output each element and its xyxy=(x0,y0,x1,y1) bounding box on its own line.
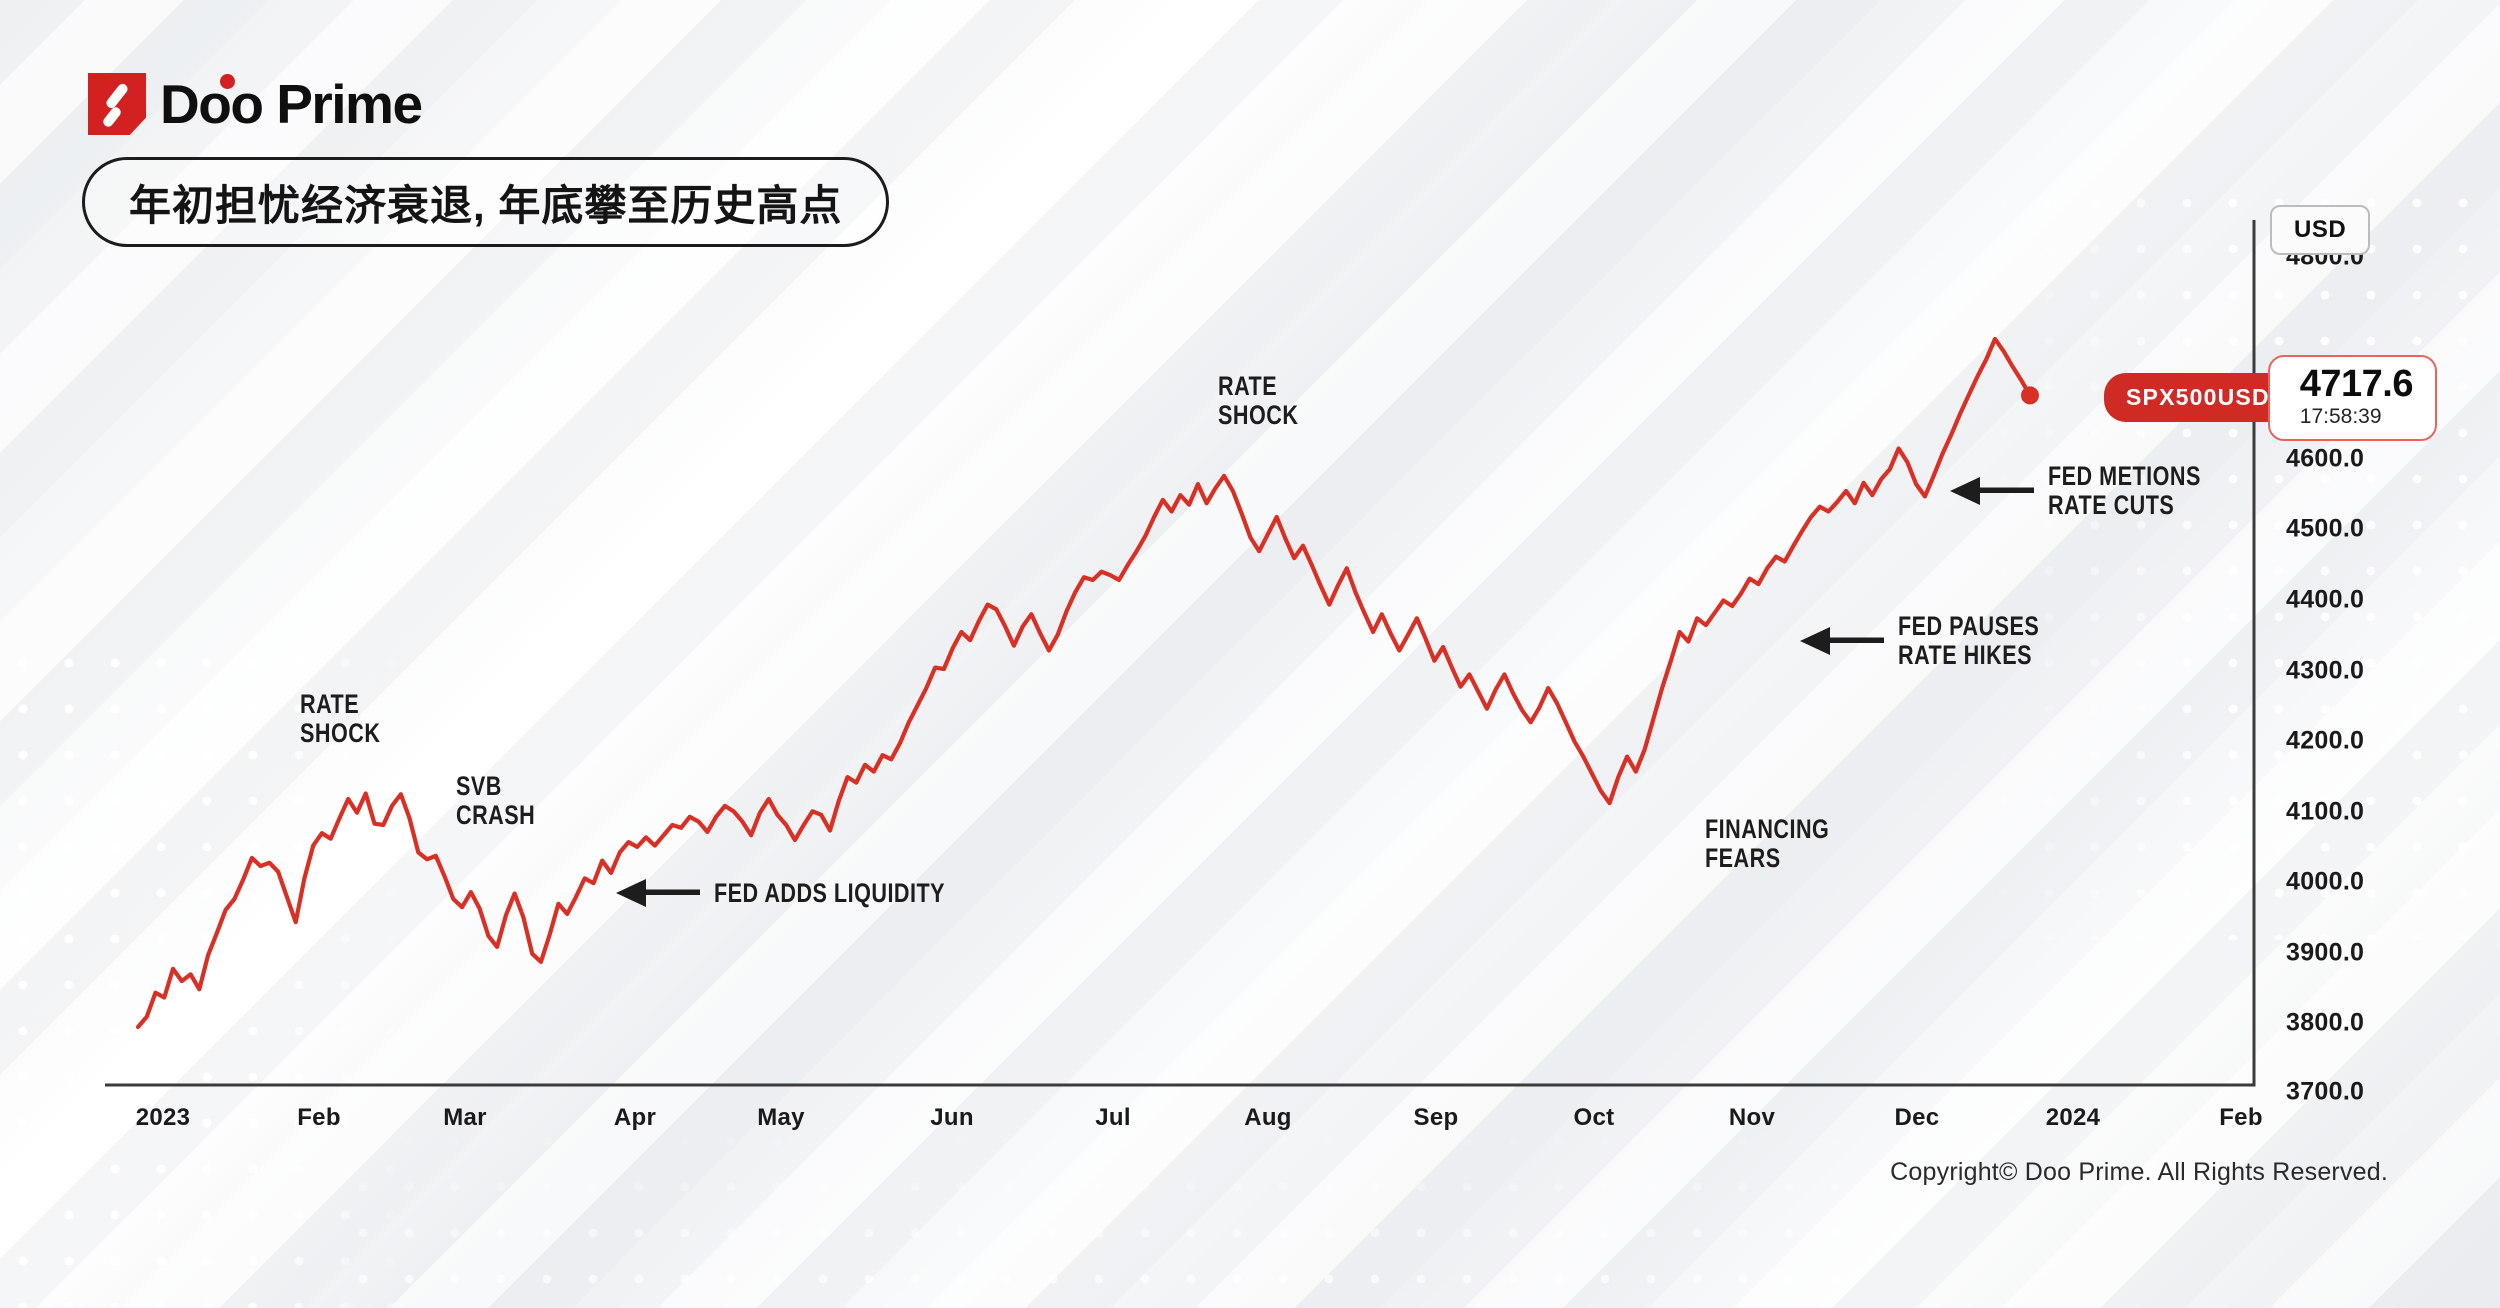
y-axis-tick: 4600.0 xyxy=(2286,445,2364,474)
x-axis-tick: Feb xyxy=(297,1104,341,1132)
annotation-rate-shock-jan: RATE SHOCK xyxy=(300,690,380,748)
x-axis-tick: May xyxy=(757,1104,805,1132)
annotation-svb-crash: SVB CRASH xyxy=(456,772,535,830)
x-axis-tick: 2023 xyxy=(136,1104,191,1132)
annotation-arrow-left-icon xyxy=(1950,474,2034,508)
x-axis-tick: Sep xyxy=(1414,1104,1459,1132)
annotation-label: FED METIONS RATE CUTS xyxy=(2048,462,2201,520)
y-axis-tick: 3700.0 xyxy=(2286,1078,2364,1107)
x-axis-tick: Jul xyxy=(1095,1104,1131,1132)
y-axis-tick: 4500.0 xyxy=(2286,515,2364,544)
price-value: 4717.6 xyxy=(2300,365,2413,404)
x-axis-tick: Apr xyxy=(614,1104,656,1132)
y-axis-tick: 4200.0 xyxy=(2286,727,2364,756)
annotation-rate-shock-aug: RATE SHOCK xyxy=(1218,372,1298,430)
last-price-tag: SPX500USD 4717.6 17:58:39 xyxy=(2104,355,2437,441)
x-axis-tick: Mar xyxy=(443,1104,487,1132)
y-axis-tick: 3800.0 xyxy=(2286,1009,2364,1038)
y-axis-tick: 4400.0 xyxy=(2286,586,2364,615)
price-timestamp: 17:58:39 xyxy=(2300,404,2413,429)
currency-badge[interactable]: USD xyxy=(2270,205,2370,255)
copyright-notice: Copyright© Doo Prime. All Rights Reserve… xyxy=(1890,1158,2388,1187)
y-axis-tick: 4000.0 xyxy=(2286,868,2364,897)
annotation-fed-adds-liq: FED ADDS LIQUIDITY xyxy=(616,876,1003,910)
x-axis-tick: Dec xyxy=(1895,1104,1940,1132)
y-axis-tick: 4300.0 xyxy=(2286,657,2364,686)
x-axis-tick: Nov xyxy=(1729,1104,1775,1132)
x-axis-tick: Jun xyxy=(930,1104,974,1132)
annotation-arrow-left-icon xyxy=(1800,624,1884,658)
symbol-badge[interactable]: SPX500USD xyxy=(2104,373,2290,422)
spx500usd-line-series xyxy=(138,339,2030,1027)
y-axis-tick: 3900.0 xyxy=(2286,939,2364,968)
annotation-label: FED PAUSES RATE HIKES xyxy=(1898,612,2039,670)
x-axis-tick: Feb xyxy=(2219,1104,2263,1132)
annotation-fed-pauses: FED PAUSES RATE HIKES xyxy=(1800,612,2075,670)
x-axis-tick: 2024 xyxy=(2046,1104,2101,1132)
price-readout: 4717.6 17:58:39 xyxy=(2268,355,2437,441)
annotation-label: FED ADDS LIQUIDITY xyxy=(714,879,945,908)
x-axis-tick: Aug xyxy=(1244,1104,1292,1132)
annotation-arrow-left-icon xyxy=(616,876,700,910)
annotation-financing-fears: FINANCING FEARS xyxy=(1705,815,1829,873)
annotation-fed-mentions: FED METIONS RATE CUTS xyxy=(1950,462,2239,520)
y-axis-tick: 4100.0 xyxy=(2286,798,2364,827)
last-price-marker xyxy=(2021,386,2039,404)
x-axis-tick: Oct xyxy=(1574,1104,1615,1132)
